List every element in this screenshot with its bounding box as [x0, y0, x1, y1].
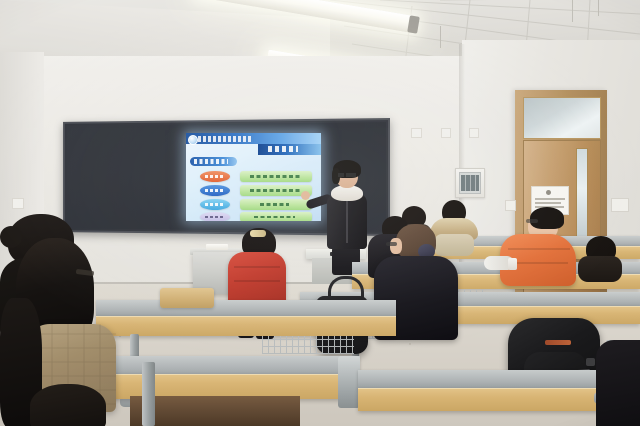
projected-slide [186, 133, 321, 221]
slide-content-bar-3 [240, 199, 312, 210]
student-foreground-head [30, 384, 114, 426]
wall-outlet-left[interactable] [12, 198, 24, 209]
desk-foreground-endcap [338, 356, 360, 408]
student-foreground-hair [30, 384, 106, 426]
light-hanger-wire-2 [598, 0, 599, 16]
light-switch-panel[interactable] [455, 168, 485, 198]
red-jacket-seam-2 [234, 280, 280, 282]
slide-institution-text [198, 136, 252, 142]
slide-menu-button-2 [200, 185, 230, 196]
student-foreground-right [596, 340, 640, 426]
student-orange-puffer [496, 208, 580, 282]
student-foreground-right-coat [596, 340, 640, 426]
puffer-seam-2 [510, 262, 568, 264]
presenter-hand [301, 191, 310, 200]
student-dark-coat-glasses [386, 242, 397, 246]
light-hanger-wire-1 [572, 0, 573, 22]
red-jacket-seam-1 [234, 266, 280, 268]
presenter-glasses [338, 173, 356, 177]
wall-outlet-right[interactable] [611, 198, 629, 212]
student-red-jacket-coat [228, 252, 286, 306]
door-transom-window [523, 97, 601, 139]
puffer-seam-1 [508, 248, 570, 250]
student-dark-coat-face [390, 238, 402, 254]
backpack-buckle [586, 358, 595, 366]
hair-clip [250, 230, 266, 237]
classroom-photo [0, 0, 640, 426]
desk-foreground-underside [130, 396, 300, 426]
slide-menu-button-1 [200, 171, 230, 182]
desk-row-1-basket [262, 336, 354, 354]
slide-section-label [194, 159, 228, 164]
wall-fixture-c [469, 128, 479, 138]
seat-back-center [160, 288, 214, 308]
cup [508, 258, 517, 270]
wall-fixture-a [411, 128, 422, 138]
wall-fixture-b [441, 128, 451, 138]
slide-menu-button-3 [200, 199, 230, 210]
student-right-rear [578, 236, 622, 280]
slide-title-text [268, 146, 298, 152]
university-emblem-icon [188, 135, 198, 145]
presenter-jacket-zipper [346, 197, 348, 243]
light-hanger-wire-3 [440, 26, 441, 48]
student-orange-puffer-glasses [526, 219, 538, 223]
student-right-rear-coat [578, 256, 622, 282]
slide-content-bar-1 [240, 171, 312, 182]
student-orange-puffer-hair [530, 207, 564, 229]
backpack-logo [545, 340, 571, 345]
desk-row-1 [96, 316, 396, 335]
desk-foreground-leg [142, 362, 155, 426]
slide-menu-button-4 [200, 212, 230, 221]
slide-content-bar-4 [240, 212, 312, 221]
